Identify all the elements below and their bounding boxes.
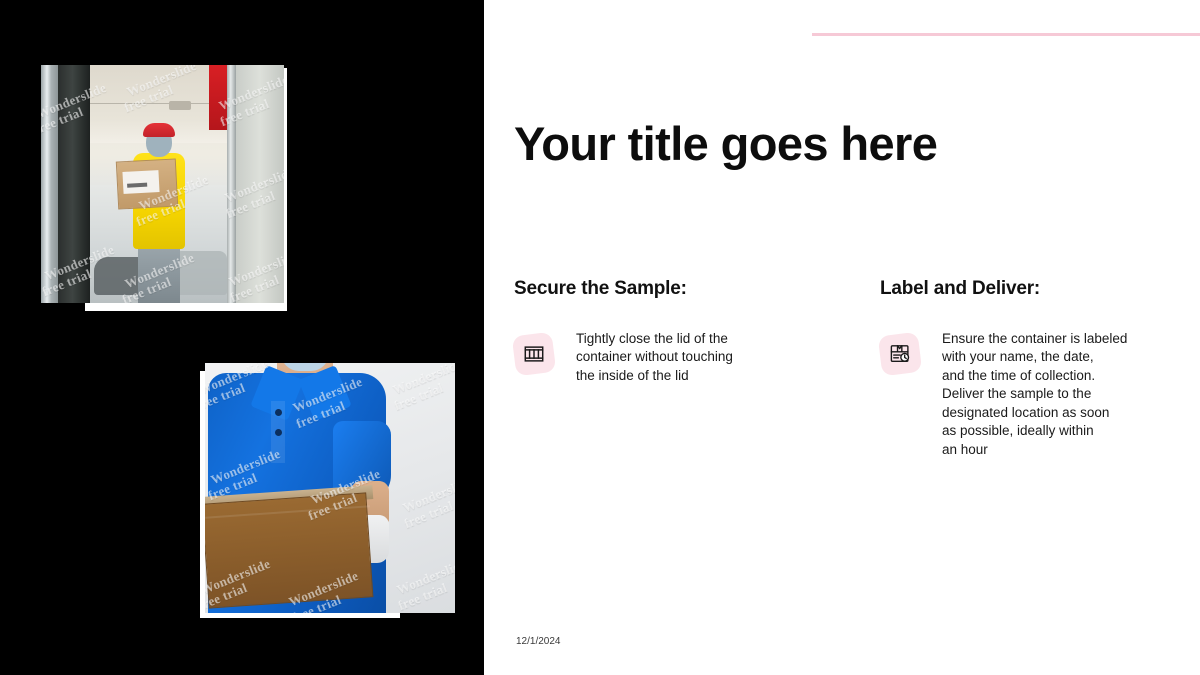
container-crate-icon: [514, 334, 554, 374]
photo-wall-left: [41, 65, 58, 303]
labeled-package-clock-icon: [880, 334, 920, 374]
photo-shirt-button: [275, 409, 282, 416]
content-columns: Secure the Sample: Tightly close the lid…: [514, 278, 1178, 459]
photo-top-wrapper: Wonderslide free trial Wonderslide free …: [41, 65, 287, 308]
photo-wall-right: [236, 65, 284, 303]
photo-door-mullion: [227, 65, 236, 303]
column-secure-the-sample: Secure the Sample: Tightly close the lid…: [514, 278, 812, 459]
left-image-panel: Wonderslide free trial Wonderslide free …: [0, 0, 484, 675]
photo-courier-legs: [138, 247, 180, 303]
column-body-text: Tightly close the lid of the container w…: [576, 330, 733, 385]
accent-rule: [812, 33, 1200, 36]
courier-in-blue-polo-holding-box-photo: Wonderslide free trial Wonderslide free …: [205, 363, 455, 613]
photo-door-frame: [58, 65, 90, 303]
photo-box-shipping-label: [122, 170, 159, 194]
photo-red-banner: [209, 65, 227, 130]
slide-canvas: Wonderslide free trial Wonderslide free …: [0, 0, 1200, 675]
photo-bottom-wrapper: Wonderslide free trial Wonderslide free …: [200, 363, 455, 618]
photo-ceiling-vent: [169, 101, 191, 110]
delivery-courier-at-glass-door-photo: Wonderslide free trial Wonderslide free …: [41, 65, 284, 303]
date-stamp: 12/1/2024: [516, 636, 561, 647]
column-label-and-deliver: Label and Deliver: Ensure the: [880, 278, 1178, 459]
column-body-text: Ensure the container is labeled with you…: [942, 330, 1127, 459]
column-row: Ensure the container is labeled with you…: [880, 330, 1178, 459]
column-heading: Label and Deliver:: [880, 278, 1178, 300]
labeled-package-clock-glyph: [889, 343, 911, 365]
page-title: Your title goes here: [514, 118, 1154, 170]
photo-cardboard-box: [205, 492, 373, 608]
photo-shirt-button: [275, 429, 282, 436]
photo-courier-red-cap: [143, 123, 175, 137]
column-row: Tightly close the lid of the container w…: [514, 330, 812, 385]
container-crate-glyph: [523, 343, 545, 365]
column-heading: Secure the Sample:: [514, 278, 812, 300]
